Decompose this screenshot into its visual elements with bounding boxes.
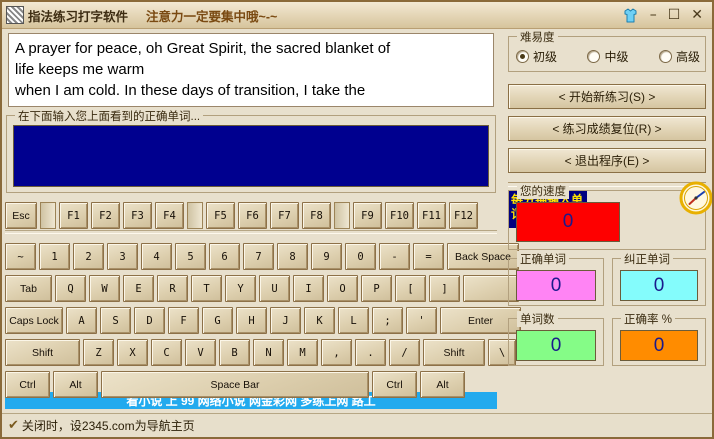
- radio-label-intermediate: 中级: [604, 48, 628, 65]
- key-f10[interactable]: F10: [385, 202, 414, 229]
- key-f6[interactable]: F6: [238, 202, 267, 229]
- radio-dot-beginner[interactable]: [516, 50, 529, 63]
- key-s[interactable]: S: [100, 307, 131, 334]
- key-esc[interactable]: Esc: [5, 202, 37, 229]
- key-caps-lock[interactable]: Caps Lock: [5, 307, 63, 334]
- key-f12[interactable]: F12: [449, 202, 478, 229]
- key-n[interactable]: N: [253, 339, 284, 366]
- key-5[interactable]: 5: [175, 243, 206, 270]
- key-6[interactable]: 6: [209, 243, 240, 270]
- keyboard-row-5: ShiftZXCVBNM,./Shift\: [5, 339, 516, 366]
- fixed-words-label: 纠正单词: [621, 251, 673, 267]
- radio-label-advanced: 高级: [676, 48, 700, 65]
- radio-intermediate[interactable]: 中级: [587, 48, 628, 65]
- keyboard-row-6: CtrlAltSpace BarCtrlAlt: [5, 371, 465, 398]
- key-f[interactable]: F: [168, 307, 199, 334]
- sample-text-display: A prayer for peace, oh Great Spirit, the…: [8, 33, 494, 107]
- typing-input-group: 在下面输入您上面看到的正确单词...: [6, 115, 496, 193]
- clock-icon: [677, 179, 714, 217]
- key-blank[interactable]: ': [406, 307, 437, 334]
- exit-program-button[interactable]: < 退出程序(E) >: [508, 148, 706, 173]
- typing-input-label: 在下面输入您上面看到的正确单词...: [15, 108, 203, 124]
- key-f8[interactable]: F8: [302, 202, 331, 229]
- key-tab[interactable]: Tab: [5, 275, 52, 302]
- keyboard-row-4: Caps LockASDFGHJKL;'Enter: [5, 307, 521, 334]
- key-v[interactable]: V: [185, 339, 216, 366]
- speed-label: 您的速度: [517, 183, 569, 199]
- accuracy-rate-group: 正确率 % 0: [612, 318, 706, 366]
- key-p[interactable]: P: [361, 275, 392, 302]
- key-f1[interactable]: F1: [59, 202, 88, 229]
- keyboard-row-3: TabQWERTYUIOP[]: [5, 275, 519, 302]
- key-f5[interactable]: F5: [206, 202, 235, 229]
- key-l[interactable]: L: [338, 307, 369, 334]
- key-h[interactable]: H: [236, 307, 267, 334]
- difficulty-group: 难易度 初级 中级 高级: [508, 36, 706, 72]
- key-9[interactable]: 9: [311, 243, 342, 270]
- key-blank[interactable]: ]: [429, 275, 460, 302]
- key-4[interactable]: 4: [141, 243, 172, 270]
- accuracy-rate-value: 0: [620, 330, 698, 361]
- sample-line-1: A prayer for peace, oh Great Spirit, the…: [15, 38, 487, 59]
- key-0[interactable]: 0: [345, 243, 376, 270]
- window-subtitle: 注意力一定要集中哦~-~: [146, 6, 277, 25]
- key-blank[interactable]: =: [413, 243, 444, 270]
- sample-line-3: when I am cold. In these days of transit…: [15, 80, 487, 101]
- keyboard-spacer: [40, 202, 56, 229]
- key-blank[interactable]: ,: [321, 339, 352, 366]
- app-icon: [6, 6, 24, 24]
- minimize-button[interactable]: –: [650, 8, 657, 22]
- keyboard-row-2: ~1234567890-=Back Space: [5, 243, 519, 270]
- key-e[interactable]: E: [123, 275, 154, 302]
- typing-input[interactable]: [13, 125, 489, 187]
- checkmark-icon[interactable]: ✔: [8, 418, 19, 433]
- key-space-bar[interactable]: Space Bar: [101, 371, 369, 398]
- maximize-button[interactable]: ☐: [668, 8, 681, 22]
- key-w[interactable]: W: [89, 275, 120, 302]
- keyboard-spacer: [334, 202, 350, 229]
- virtual-keyboard: EscF1F2F3F4F5F6F7F8F9F10F11F12~123456789…: [5, 199, 497, 405]
- fixed-words-group: 纠正单词 0: [612, 258, 706, 306]
- key-f11[interactable]: F11: [417, 202, 446, 229]
- key-r[interactable]: R: [157, 275, 188, 302]
- key-blank[interactable]: .: [355, 339, 386, 366]
- key-alt[interactable]: Alt: [420, 371, 465, 398]
- keyboard-divider: [5, 230, 497, 234]
- speed-group: 您的速度 0 每分钟输入单词: [508, 190, 706, 250]
- word-count-label: 单词数: [517, 311, 558, 327]
- key-q[interactable]: Q: [55, 275, 86, 302]
- app-window: 指法练习打字软件 注意力一定要集中哦~-~ – ☐ ✕ A prayer for…: [0, 0, 714, 439]
- status-bar: ✔ 关闭时，设2345.com为导航主页: [2, 413, 712, 437]
- correct-words-value: 0: [516, 270, 596, 301]
- key-k[interactable]: K: [304, 307, 335, 334]
- key-d[interactable]: D: [134, 307, 165, 334]
- word-count-value: 0: [516, 330, 596, 361]
- key-x[interactable]: X: [117, 339, 148, 366]
- key-alt[interactable]: Alt: [53, 371, 98, 398]
- key-b[interactable]: B: [219, 339, 250, 366]
- key-shift[interactable]: Shift: [5, 339, 80, 366]
- key-m[interactable]: M: [287, 339, 318, 366]
- key-f3[interactable]: F3: [123, 202, 152, 229]
- key-ctrl[interactable]: Ctrl: [5, 371, 50, 398]
- homepage-checkbox-label[interactable]: 关闭时，设2345.com为导航主页: [22, 417, 195, 434]
- key-z[interactable]: Z: [83, 339, 114, 366]
- key-shift[interactable]: Shift: [423, 339, 485, 366]
- key-blank[interactable]: [: [395, 275, 426, 302]
- shirt-icon[interactable]: [622, 7, 639, 24]
- key-ctrl[interactable]: Ctrl: [372, 371, 417, 398]
- reset-score-button[interactable]: < 练习成绩复位(R) >: [508, 116, 706, 141]
- difficulty-label: 难易度: [517, 29, 558, 45]
- right-panel: 难易度 初级 中级 高级 < 开始新练习(S) > < 练习成绩复位(R) > …: [502, 32, 712, 413]
- start-practice-button[interactable]: < 开始新练习(S) >: [508, 84, 706, 109]
- key-2[interactable]: 2: [73, 243, 104, 270]
- key-a[interactable]: A: [66, 307, 97, 334]
- key-f2[interactable]: F2: [91, 202, 120, 229]
- key-o[interactable]: O: [327, 275, 358, 302]
- key-blank[interactable]: ;: [372, 307, 403, 334]
- key-c[interactable]: C: [151, 339, 182, 366]
- difficulty-options: 初级 中级 高级: [516, 48, 700, 65]
- fixed-words-value: 0: [620, 270, 698, 301]
- key-f9[interactable]: F9: [353, 202, 382, 229]
- radio-beginner[interactable]: 初级: [516, 48, 557, 65]
- key-8[interactable]: 8: [277, 243, 308, 270]
- keyboard-spacer: [187, 202, 203, 229]
- key-u[interactable]: U: [259, 275, 290, 302]
- accuracy-rate-label: 正确率 %: [621, 311, 675, 327]
- key-7[interactable]: 7: [243, 243, 274, 270]
- keyboard-row-1: EscF1F2F3F4F5F6F7F8F9F10F11F12: [5, 202, 478, 229]
- window-controls: – ☐ ✕: [622, 7, 712, 24]
- key-f7[interactable]: F7: [270, 202, 299, 229]
- correct-words-group: 正确单词 0: [508, 258, 604, 306]
- key--[interactable]: -: [379, 243, 410, 270]
- key-1[interactable]: 1: [39, 243, 70, 270]
- key-f4[interactable]: F4: [155, 202, 184, 229]
- key-blank[interactable]: /: [389, 339, 420, 366]
- speed-value: 0: [516, 202, 620, 242]
- sample-line-2: life keeps me warm: [15, 59, 487, 80]
- title-bar: 指法练习打字软件 注意力一定要集中哦~-~ – ☐ ✕: [2, 2, 712, 29]
- correct-words-label: 正确单词: [517, 251, 569, 267]
- radio-dot-intermediate[interactable]: [587, 50, 600, 63]
- key-g[interactable]: G: [202, 307, 233, 334]
- radio-advanced[interactable]: 高级: [659, 48, 700, 65]
- radio-label-beginner: 初级: [533, 48, 557, 65]
- word-count-group: 单词数 0: [508, 318, 604, 366]
- window-title: 指法练习打字软件: [28, 6, 128, 25]
- radio-dot-advanced[interactable]: [659, 50, 672, 63]
- close-button[interactable]: ✕: [691, 8, 703, 22]
- key-j[interactable]: J: [270, 307, 301, 334]
- key-i[interactable]: I: [293, 275, 324, 302]
- key-3[interactable]: 3: [107, 243, 138, 270]
- key-y[interactable]: Y: [225, 275, 256, 302]
- key-blank[interactable]: ~: [5, 243, 36, 270]
- key-t[interactable]: T: [191, 275, 222, 302]
